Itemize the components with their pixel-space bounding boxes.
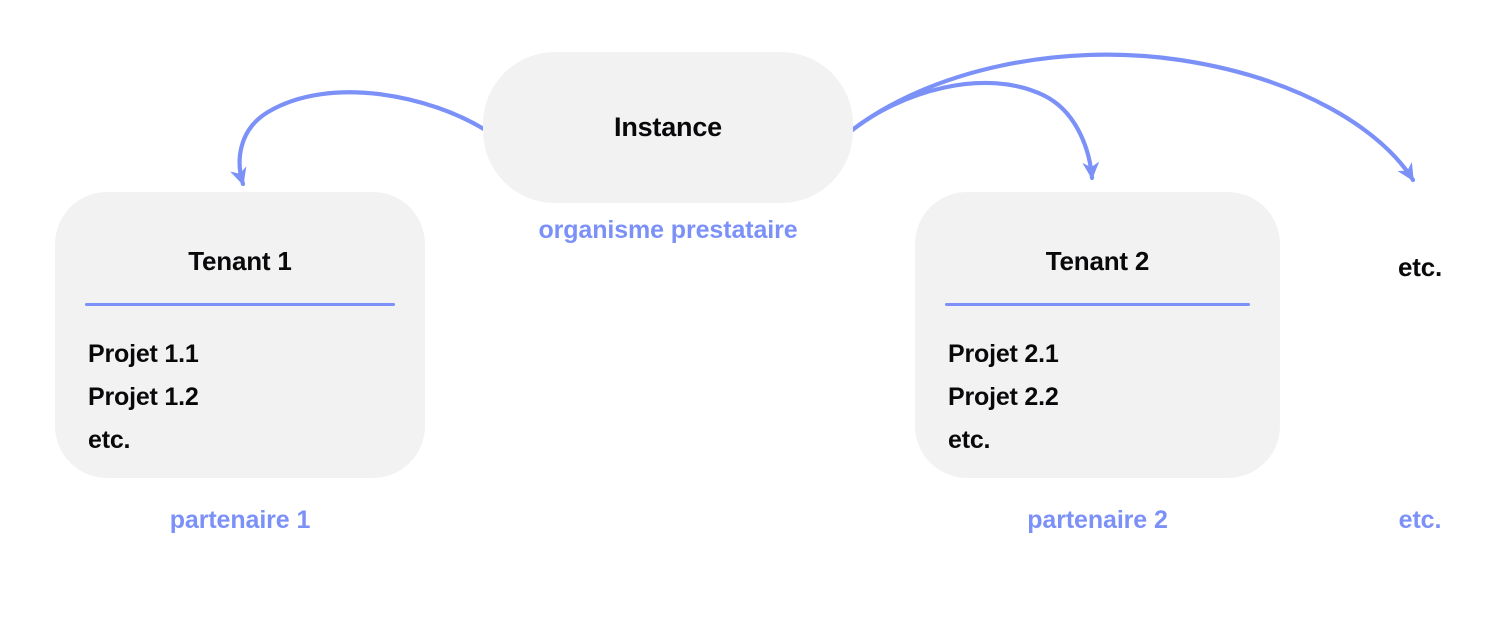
tenant-1-caption: partenaire 1 bbox=[55, 506, 425, 535]
list-item: Projet 1.1 bbox=[88, 333, 405, 376]
tenant-1-project-list: Projet 1.1 Projet 1.2 etc. bbox=[88, 333, 405, 462]
tenant-2-title: Tenant 2 bbox=[915, 246, 1280, 277]
arrow-instance-to-etc bbox=[851, 55, 1413, 180]
overflow-node-label: etc. bbox=[1340, 252, 1500, 283]
arrow-instance-to-tenant2 bbox=[851, 83, 1092, 178]
diagram-canvas: Instance organisme prestataire Tenant 1 … bbox=[0, 0, 1503, 620]
instance-node[interactable]: Instance bbox=[483, 52, 853, 203]
instance-title: Instance bbox=[614, 112, 722, 143]
list-item: Projet 2.2 bbox=[948, 376, 1260, 419]
list-item: etc. bbox=[88, 419, 405, 462]
list-item: etc. bbox=[948, 419, 1260, 462]
overflow-caption: etc. bbox=[1340, 506, 1500, 535]
tenant-2-node[interactable]: Tenant 2 Projet 2.1 Projet 2.2 etc. bbox=[915, 192, 1280, 478]
list-item: Projet 2.1 bbox=[948, 333, 1260, 376]
tenant-2-divider bbox=[945, 303, 1250, 306]
tenant-2-caption: partenaire 2 bbox=[915, 506, 1280, 535]
instance-caption: organisme prestataire bbox=[483, 216, 853, 245]
list-item: Projet 1.2 bbox=[88, 376, 405, 419]
tenant-1-title: Tenant 1 bbox=[55, 246, 425, 277]
tenant-1-node[interactable]: Tenant 1 Projet 1.1 Projet 1.2 etc. bbox=[55, 192, 425, 478]
tenant-1-divider bbox=[85, 303, 395, 306]
tenant-2-project-list: Projet 2.1 Projet 2.2 etc. bbox=[948, 333, 1260, 462]
arrow-instance-to-tenant1 bbox=[240, 92, 487, 184]
